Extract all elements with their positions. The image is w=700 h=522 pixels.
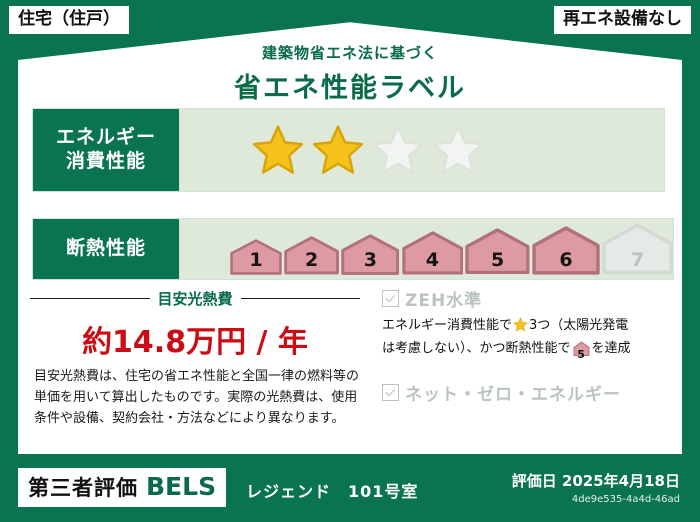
utility-cost-heading: 目安光熱費 bbox=[30, 288, 360, 309]
zeh-checkbox bbox=[382, 290, 399, 307]
star-empty-icon bbox=[370, 123, 426, 177]
inline-house-number: 5 bbox=[573, 346, 590, 363]
page-title: 省エネ性能ラベル bbox=[0, 66, 700, 105]
insulation-level-scale: 1234567 bbox=[180, 223, 673, 275]
insulation-level-1: 1 bbox=[230, 239, 282, 275]
bels-logo-text: BELS bbox=[146, 472, 216, 501]
insulation-level-4: 4 bbox=[402, 231, 464, 275]
zeh-description: エネルギー消費性能で 3つ（太陽光発電は考慮しない）、かつ断熱性能で 5 を達成 bbox=[382, 316, 668, 363]
bels-logo-box: 第三者評価 BELS bbox=[18, 468, 226, 507]
heading-rule-left bbox=[30, 298, 150, 299]
title-subtitle: 建築物省エネ法に基づく bbox=[0, 42, 700, 63]
zeh-desc-part1: エネルギー消費性能で bbox=[382, 318, 512, 333]
energy-label-line2: 消費性能 bbox=[66, 150, 146, 174]
star-rating bbox=[180, 123, 486, 177]
zeh-heading: ZEH水準 bbox=[382, 286, 668, 311]
zeh-desc-part3: を達成 bbox=[592, 341, 631, 356]
insulation-level-number: 2 bbox=[284, 249, 339, 271]
star-filled-icon bbox=[250, 123, 306, 177]
insulation-level-number: 3 bbox=[341, 249, 399, 271]
evaluation-info: 評価日 2025年4月18日 4de9e535-4a4d-46ad bbox=[512, 470, 680, 505]
insulation-level-number: 1 bbox=[230, 249, 282, 271]
insulation-level-3: 3 bbox=[341, 234, 399, 275]
insulation-performance-label: 断熱性能 bbox=[32, 218, 180, 280]
check-icon bbox=[385, 388, 396, 397]
insulation-level-2: 2 bbox=[284, 236, 339, 275]
energy-performance-label: エネルギー 消費性能 bbox=[32, 108, 180, 192]
star-empty-icon bbox=[430, 123, 486, 177]
third-party-evaluation-label: 第三者評価 bbox=[28, 472, 138, 502]
zeh-title: ZEH水準 bbox=[405, 286, 482, 311]
heading-rule-right bbox=[241, 298, 361, 299]
energy-performance-row: エネルギー 消費性能 bbox=[32, 108, 665, 192]
net-zero-energy-heading: ネット・ゼロ・エネルギー bbox=[382, 380, 668, 405]
evaluation-id: 4de9e535-4a4d-46ad bbox=[512, 494, 680, 505]
net-zero-energy-title: ネット・ゼロ・エネルギー bbox=[405, 380, 621, 405]
insulation-level-number: 6 bbox=[532, 249, 600, 271]
insulation-level-7: 7 bbox=[602, 223, 673, 275]
evaluation-date: 評価日 2025年4月18日 bbox=[512, 470, 680, 491]
tag-housing-type: 住宅（住戸） bbox=[8, 5, 130, 35]
utility-cost-heading-text: 目安光熱費 bbox=[158, 288, 233, 309]
bels-energy-label: 住宅（住戸） 再エネ設備なし 建築物省エネ法に基づく 省エネ性能ラベル エネルギ… bbox=[0, 0, 700, 522]
insulation-level-number: 4 bbox=[402, 249, 464, 271]
insulation-level-number: 5 bbox=[465, 249, 530, 271]
zeh-desc-stars: 3つ（太陽光発電 bbox=[529, 318, 628, 333]
star-filled-icon bbox=[310, 123, 366, 177]
insulation-performance-value: 1234567 bbox=[180, 218, 674, 280]
zeh-desc-part2: は考慮しない）、かつ断熱性能で bbox=[382, 341, 571, 356]
title-block: 建築物省エネ法に基づく 省エネ性能ラベル bbox=[0, 42, 700, 105]
energy-performance-value bbox=[180, 108, 665, 192]
utility-cost-note: 目安光熱費は、住宅の省エネ性能と全国一律の燃料等の単価を用いて算出したものです。… bbox=[34, 366, 364, 429]
insulation-level-number: 7 bbox=[602, 249, 673, 271]
insulation-level-6: 6 bbox=[532, 226, 600, 275]
check-icon bbox=[385, 294, 396, 303]
footer-bar: 第三者評価 BELS レジェンド 101号室 評価日 2025年4月18日 4d… bbox=[0, 454, 700, 522]
insulation-performance-row: 断熱性能 1234567 bbox=[32, 218, 665, 280]
inline-house-badge: 5 bbox=[573, 341, 590, 363]
utility-cost-amount: 約14.8万円 / 年 bbox=[30, 317, 360, 361]
inline-star-icon bbox=[513, 317, 528, 339]
net-zero-energy-checkbox bbox=[382, 384, 399, 401]
zeh-block: ZEH水準 エネルギー消費性能で 3つ（太陽光発電は考慮しない）、かつ断熱性能で… bbox=[382, 286, 668, 405]
building-name: レジェンド 101号室 bbox=[246, 478, 418, 502]
tag-renewable-equipment: 再エネ設備なし bbox=[553, 5, 692, 35]
energy-label-line1: エネルギー bbox=[56, 126, 156, 150]
utility-cost-block: 目安光熱費 約14.8万円 / 年 bbox=[30, 288, 360, 361]
insulation-label-text: 断熱性能 bbox=[66, 237, 146, 261]
insulation-level-5: 5 bbox=[465, 228, 530, 274]
